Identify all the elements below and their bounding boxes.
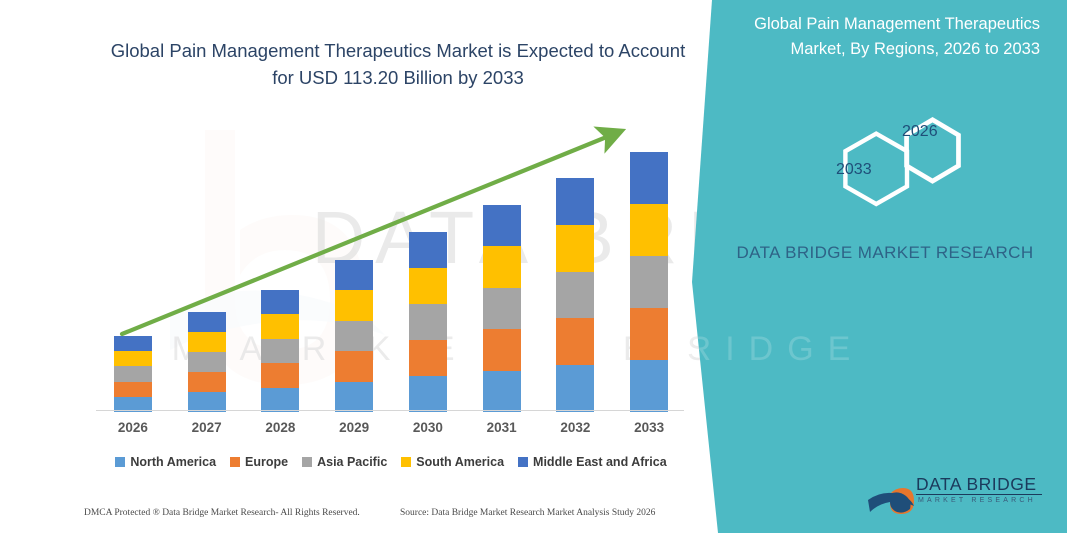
dbmr-logo-rule [916,494,1042,495]
legend-item-south-america[interactable]: South America [401,455,504,469]
bar-2032[interactable] [556,178,594,412]
bar-segment-europe[interactable] [188,372,226,392]
x-axis-label-2028: 2028 [245,420,315,435]
bar-segment-south-america[interactable] [114,351,152,366]
legend-swatch-icon [230,457,240,467]
bar-2028[interactable] [261,290,299,412]
bar-segment-middle-east-and-africa[interactable] [409,232,447,268]
x-axis-label-2029: 2029 [319,420,389,435]
bar-segment-middle-east-and-africa[interactable] [261,290,299,314]
bar-segment-south-america[interactable] [335,290,373,320]
legend-label: Middle East and Africa [533,455,667,469]
bar-segment-europe[interactable] [409,340,447,376]
bar-2033[interactable] [630,152,668,412]
legend-item-asia-pacific[interactable]: Asia Pacific [302,455,387,469]
bar-segment-middle-east-and-africa[interactable] [556,178,594,225]
dbmr-logo: DATA BRIDGE MARKET RESEARCH [866,470,1046,518]
bar-segment-south-america[interactable] [188,332,226,352]
dbmr-logo-title: DATA BRIDGE [916,474,1037,495]
footer-copyright: DMCA Protected ® Data Bridge Market Rese… [84,508,360,518]
hexagon-2026-label: 2026 [902,123,938,141]
bar-2031[interactable] [483,205,521,412]
legend-swatch-icon [518,457,528,467]
hexagon-2033-label: 2033 [836,161,872,179]
chart-legend: North AmericaEuropeAsia PacificSouth Ame… [96,455,686,469]
chart-title: Global Pain Management Therapeutics Mark… [108,38,688,92]
bar-segment-south-america[interactable] [630,204,668,256]
legend-label: Europe [245,455,288,469]
bar-segment-north-america[interactable] [409,376,447,412]
bar-segment-south-america[interactable] [409,268,447,304]
bar-segment-middle-east-and-africa[interactable] [483,205,521,246]
bar-segment-north-america[interactable] [188,392,226,412]
bar-segment-asia-pacific[interactable] [409,304,447,340]
bar-segment-middle-east-and-africa[interactable] [114,336,152,351]
bar-2026[interactable] [114,336,152,412]
legend-label: North America [130,455,216,469]
bar-segment-europe[interactable] [556,318,594,365]
bar-segment-north-america[interactable] [261,388,299,412]
bar-segment-middle-east-and-africa[interactable] [630,152,668,204]
legend-swatch-icon [115,457,125,467]
bar-segment-europe[interactable] [483,329,521,370]
bar-segment-north-america[interactable] [483,371,521,412]
bar-segment-europe[interactable] [335,351,373,381]
bar-segment-north-america[interactable] [630,360,668,412]
x-axis-label-2032: 2032 [540,420,610,435]
bar-segment-middle-east-and-africa[interactable] [335,260,373,290]
bar-segment-asia-pacific[interactable] [114,366,152,381]
bar-segment-europe[interactable] [630,308,668,360]
infographic-page: DATA BRIDGE M A R K E T R E S E A R C H … [0,0,1067,533]
dbmr-logo-subtitle: MARKET RESEARCH [918,497,1036,504]
bar-segment-europe[interactable] [114,382,152,397]
hexagon-shapes-icon [680,100,1067,220]
right-panel: BRIDGE Global Pain Management Therapeuti… [680,0,1067,533]
bar-segment-asia-pacific[interactable] [335,321,373,351]
x-axis-line [96,410,684,411]
bar-segment-asia-pacific[interactable] [188,352,226,372]
panel-brand-text: DATA BRIDGE MARKET RESEARCH [720,240,1050,266]
x-axis-labels: 20262027202820292030203120322033 [96,420,686,444]
legend-item-north-america[interactable]: North America [115,455,216,469]
legend-label: Asia Pacific [317,455,387,469]
bar-segment-asia-pacific[interactable] [630,256,668,308]
bar-segment-asia-pacific[interactable] [483,288,521,329]
legend-swatch-icon [401,457,411,467]
legend-swatch-icon [302,457,312,467]
x-axis-label-2033: 2033 [614,420,684,435]
bar-segment-south-america[interactable] [483,246,521,287]
panel-background-shape [680,0,1067,533]
bar-segment-europe[interactable] [261,363,299,387]
legend-item-europe[interactable]: Europe [230,455,288,469]
bar-2029[interactable] [335,260,373,412]
stacked-bar-plot [96,120,686,412]
bar-segment-south-america[interactable] [261,314,299,338]
legend-label: South America [416,455,504,469]
x-axis-label-2030: 2030 [393,420,463,435]
bar-segment-middle-east-and-africa[interactable] [188,312,226,332]
footer-source: Source: Data Bridge Market Research Mark… [400,508,655,518]
x-axis-label-2027: 2027 [172,420,242,435]
bar-segment-north-america[interactable] [335,382,373,412]
bar-segment-north-america[interactable] [556,365,594,412]
bar-segment-asia-pacific[interactable] [556,272,594,319]
legend-item-middle-east-and-africa[interactable]: Middle East and Africa [518,455,667,469]
bar-2030[interactable] [409,232,447,412]
bar-segment-asia-pacific[interactable] [261,339,299,363]
panel-title: Global Pain Management Therapeutics Mark… [710,12,1040,62]
x-axis-label-2026: 2026 [98,420,168,435]
x-axis-label-2031: 2031 [467,420,537,435]
bar-segment-south-america[interactable] [556,225,594,272]
bar-2027[interactable] [188,312,226,412]
hexagon-group: 2033 2026 [680,100,1067,220]
